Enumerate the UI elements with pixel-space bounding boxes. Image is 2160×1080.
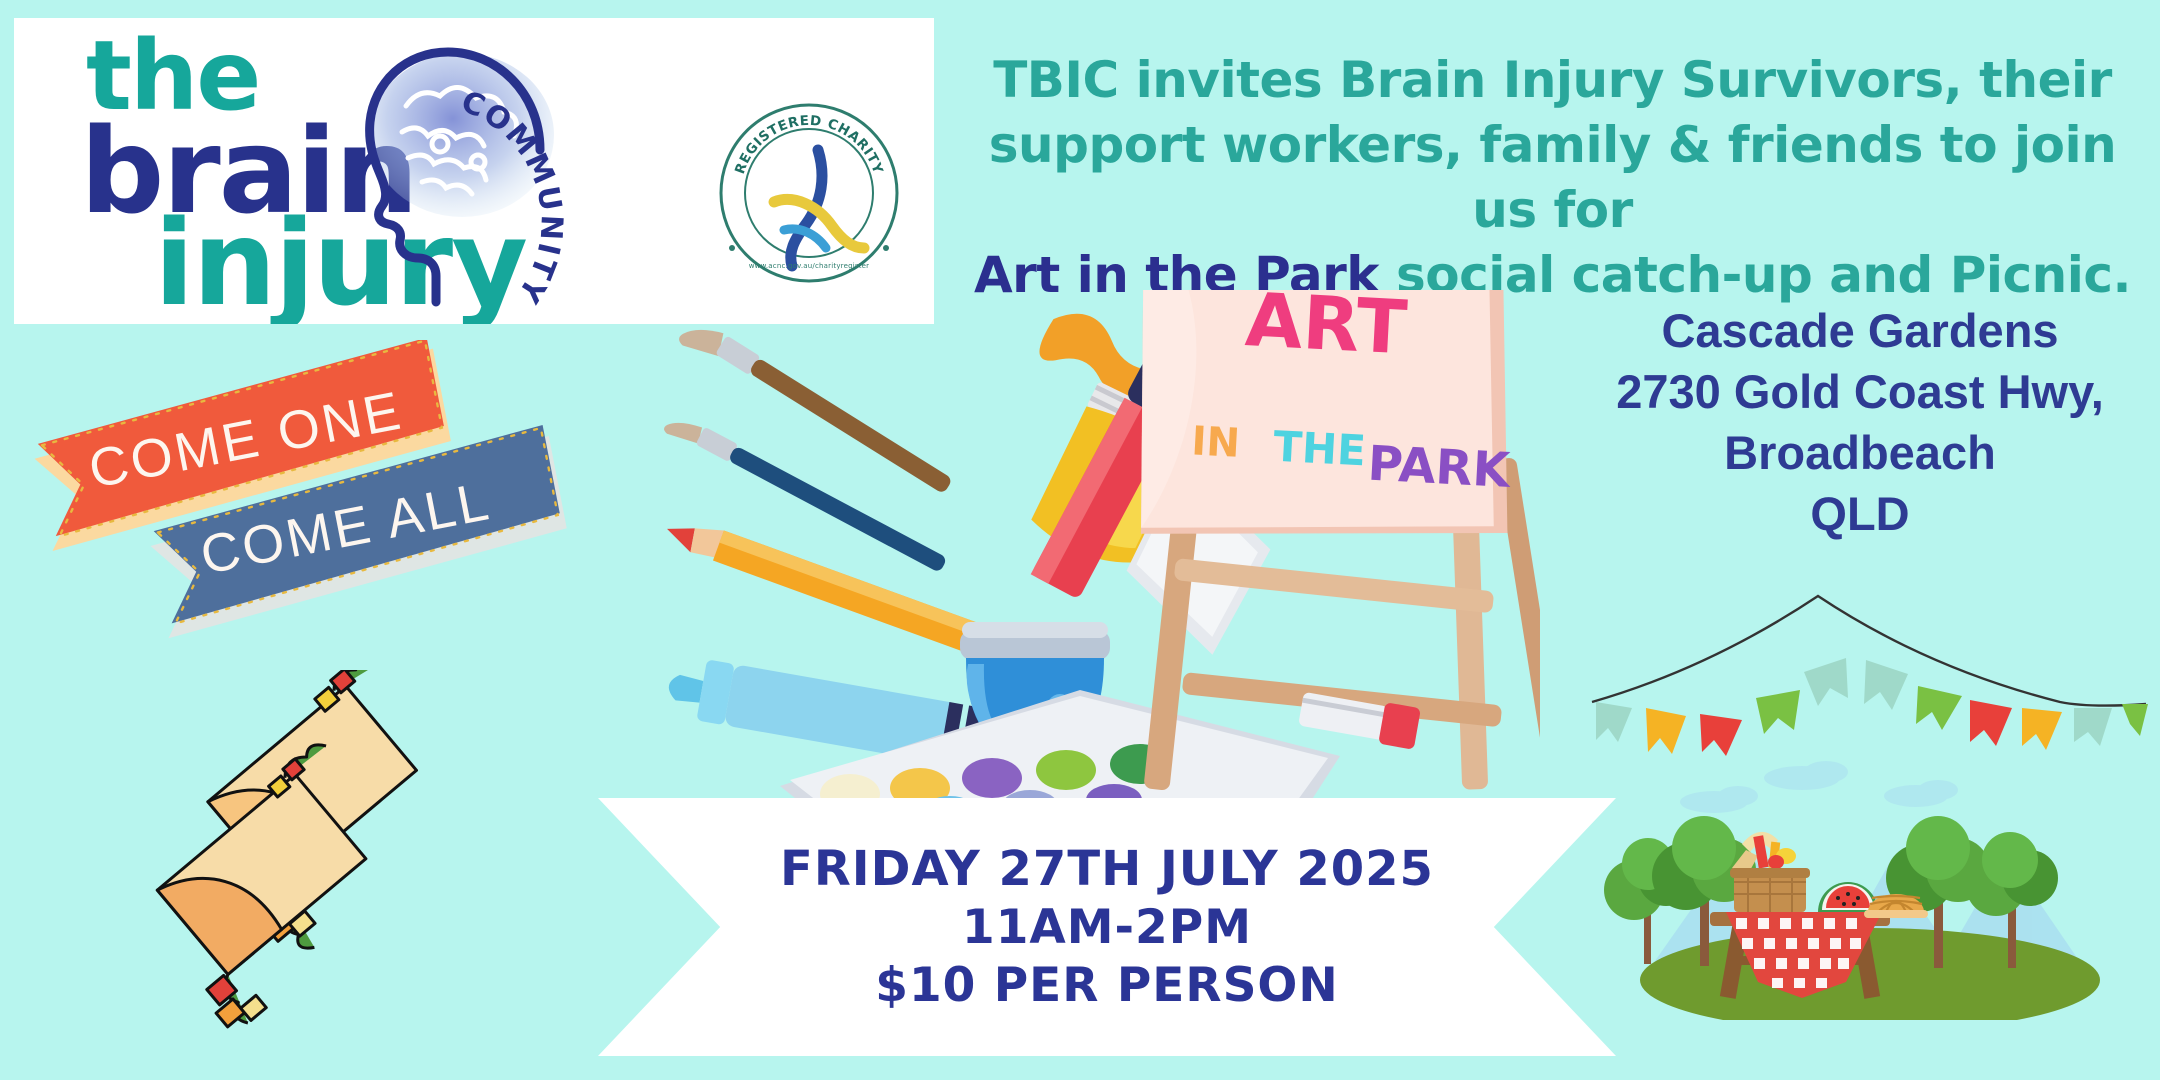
art-supplies-easel-illustration: ART IN THE PARK (660, 290, 1540, 820)
pencil-icon (662, 512, 1006, 663)
event-time: 11AM-2PM (962, 904, 1252, 951)
address-line-3: Broadbeach (1560, 422, 2160, 483)
canvas-word-art: ART (1243, 290, 1409, 371)
event-details-banner: FRIDAY 27TH JULY 2025 11AM-2PM $10 PER P… (598, 798, 1616, 1056)
picnic-table-icon (1590, 590, 2150, 1020)
canvas-word-the: THE (1272, 422, 1367, 476)
bunting-icon (1592, 596, 2148, 756)
event-date: FRIDAY 27TH JULY 2025 (780, 845, 1434, 893)
canvas-word-park: PARK (1366, 436, 1513, 499)
pie-icon (1864, 894, 1928, 918)
address-line-1: Cascade Gardens (1560, 300, 2160, 361)
logo-arc-text: COMMUNITY (456, 84, 569, 310)
address-line-2: 2730 Gold Coast Hwy, (1560, 361, 2160, 422)
canvas-word-in: IN (1190, 418, 1241, 466)
wrap-icon (120, 670, 510, 1030)
headline-line-1: TBIC invites Brain Injury Survivors, the… (960, 48, 2145, 113)
event-price: $10 PER PERSON (875, 962, 1338, 1009)
flyer-canvas: the brain injury (0, 0, 2160, 1080)
organisation-logo: the brain injury (14, 18, 934, 324)
charity-badge-url: www.acnc.gov.au/charityregister (749, 262, 870, 270)
charity-seal-icon: REGISTERED CHARITY www.acnc.gov.au/chari… (714, 98, 904, 288)
come-one-come-all-ribbons: COME ONE COME ALL (30, 340, 590, 660)
venue-address: Cascade Gardens 2730 Gold Coast Hwy, Bro… (1560, 300, 2160, 544)
address-line-4: QLD (1560, 483, 2160, 544)
logo-community-arc: COMMUNITY (412, 78, 662, 324)
headline-line-2: support workers, family & friends to joi… (960, 113, 2145, 243)
headline-block: TBIC invites Brain Injury Survivors, the… (960, 48, 2145, 308)
canvas-board: ART IN THE PARK (1127, 290, 1525, 553)
